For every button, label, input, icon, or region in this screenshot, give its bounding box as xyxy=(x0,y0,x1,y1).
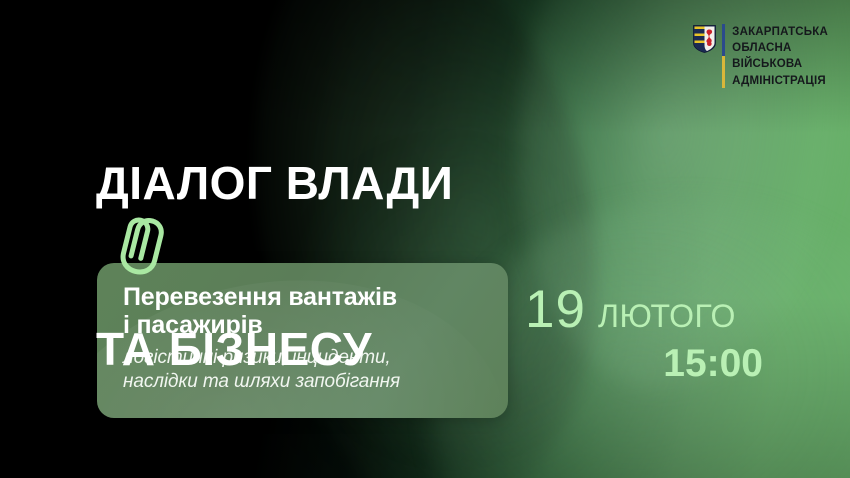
headline-line-1: ДІАЛОГ ВЛАДИ xyxy=(96,156,453,211)
event-time-row: 15:00 xyxy=(525,344,785,383)
event-date: 19 ЛЮТОГО xyxy=(525,283,785,336)
logo-line-3: ВІЙСЬКОВА xyxy=(732,56,828,72)
event-month: ЛЮТОГО xyxy=(598,300,736,332)
event-day: 19 xyxy=(525,283,586,336)
event-poster: ДІАЛОГ ВЛАДИ ТА БІЗНЕСУ ЗАКАРПАТСЬКА ОБЛ… xyxy=(0,0,850,478)
event-time: 15:00 xyxy=(663,342,763,385)
logo-divider xyxy=(722,24,725,88)
logo-line-2: ОБЛАСНА xyxy=(732,40,828,56)
logo-line-4: АДМІНІСТРАЦІЯ xyxy=(732,73,828,89)
logo-line-1: ЗАКАРПАТСЬКА xyxy=(732,24,828,40)
logo-text-block: ЗАКАРПАТСЬКА ОБЛАСНА ВІЙСЬКОВА АДМІНІСТР… xyxy=(732,24,828,89)
paperclip-icon xyxy=(112,214,170,276)
organization-logo: ЗАКАРПАТСЬКА ОБЛАСНА ВІЙСЬКОВА АДМІНІСТР… xyxy=(693,24,828,89)
event-datetime: 19 ЛЮТОГО 15:00 xyxy=(525,283,785,383)
headline-line-2: ТА БІЗНЕСУ xyxy=(96,322,453,377)
zakarpattia-coat-of-arms-icon xyxy=(693,25,716,53)
